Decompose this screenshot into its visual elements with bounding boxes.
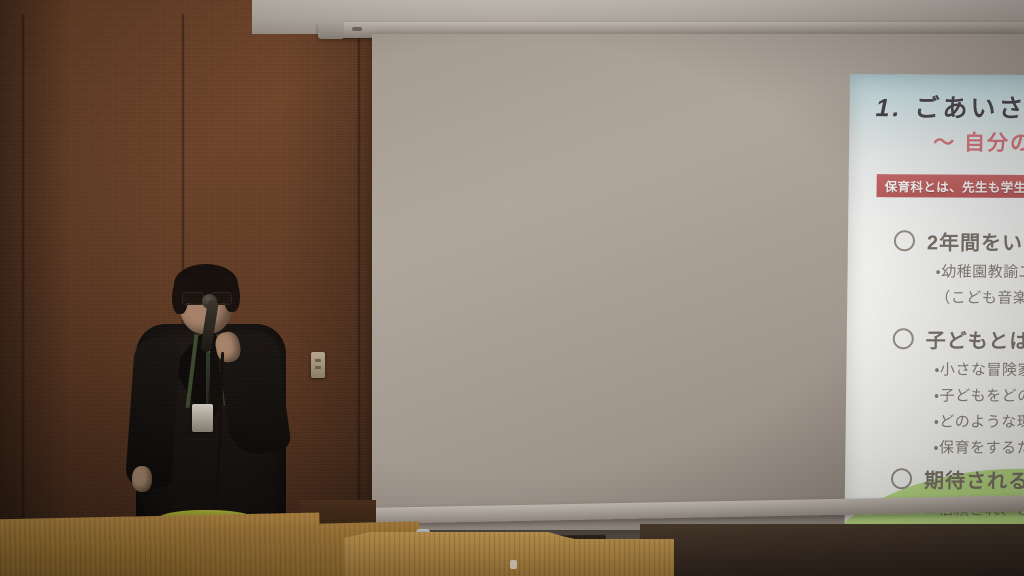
circle-bullet-icon: [891, 468, 912, 489]
slide-section-2: 子どもとは？ ・小さな冒険家、魅力に満ちた存在 ・子どもをどのようにとらえるか、…: [891, 324, 1024, 459]
slide-red-banner-text: 保育科とは、先生も学生も共に活動し、楽しみ、喜び合い、学び会う学科: [877, 176, 1024, 197]
wall-outlet: [311, 352, 325, 378]
slide-section-1-heading: 2年間をいかに過ごすか！: [927, 226, 1024, 256]
slide-section-1-header: 2年間をいかに過ごすか！: [894, 226, 1024, 257]
slide-section-1-line-2: （こども音楽療育士、准学校心理士）: [935, 286, 1024, 308]
presentation-slide: 1.ごあいさつ ～ 自分の夢を実現して下さい！～ 保育科とは、先生も学生も共に活…: [844, 74, 1024, 561]
slide-section-2-line-3: ・どのような環境で育つのがよいか？: [934, 410, 1024, 433]
presentation-scene-photo: 1.ごあいさつ ～ 自分の夢を実現して下さい！～ 保育科とは、先生も学生も共に活…: [0, 0, 1024, 576]
slide-title-text: ごあいさつ: [914, 94, 1024, 123]
slide-section-2-heading: 子どもとは？: [926, 324, 1024, 354]
circle-bullet-icon: [894, 230, 915, 251]
slide-section-2-line-4: ・保育をするための技術とは？: [933, 436, 1024, 459]
wall-panel-seam: [22, 14, 24, 576]
projection-screen: 1.ごあいさつ ～ 自分の夢を実現して下さい！～ 保育科とは、先生も学生も共に活…: [372, 34, 1024, 530]
presenter-id-badge: [192, 404, 213, 432]
roller-end-cap: [318, 21, 344, 39]
presenter: [128, 262, 298, 552]
slide-title: 1.ごあいさつ: [875, 88, 1024, 125]
slide-title-number: 1.: [875, 94, 902, 122]
roller-bracket: [352, 27, 362, 31]
slide-section-2-line-1: ・小さな冒険家、魅力に満ちた存在: [934, 358, 1024, 381]
slide-section-2-line-2: ・子どもをどのようにとらえるか、発達は？: [934, 384, 1024, 407]
slide-red-banner: 保育科とは、先生も学生も共に活動し、楽しみ、喜び合い、学び会う学科: [876, 174, 1024, 200]
slide-section-1-line-1: ・幼稚園教諭二種免許状、保育士の資格、: [935, 260, 1024, 282]
slide-section-3-header: 期待される保育者とは？: [891, 464, 1024, 495]
slide-subtitle: ～ 自分の夢を実現して下さい！～: [933, 126, 1024, 158]
desk-knob: [510, 560, 517, 569]
slide-section-2-header: 子どもとは？: [893, 324, 1024, 355]
presenter-hand-left: [132, 466, 152, 492]
lower-wall-dark: [640, 524, 1024, 576]
slide-section-3-heading: 期待される保育者とは？: [924, 464, 1024, 494]
circle-bullet-icon: [893, 328, 914, 349]
slide-section-1: 2年間をいかに過ごすか！ ・幼稚園教諭二種免許状、保育士の資格、 （こども音楽療…: [893, 226, 1024, 309]
wall-panel-seam: [358, 14, 360, 576]
